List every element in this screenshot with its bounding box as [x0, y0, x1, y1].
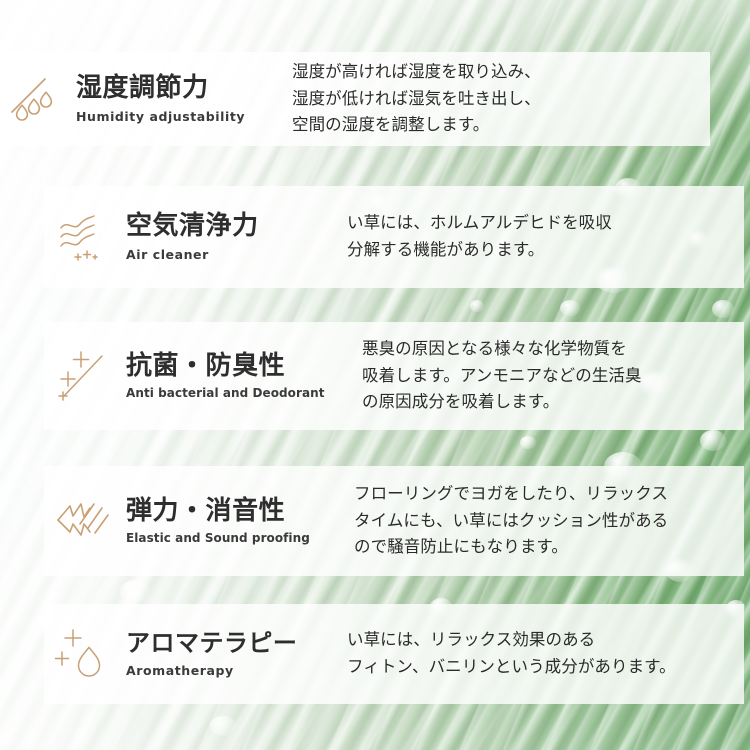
feature-titles: 弾力・消音性 Elastic and Sound proofing — [122, 497, 344, 546]
description-line: 分解する機能があります。 — [347, 237, 744, 264]
feature-icon-wrap — [44, 210, 122, 264]
description-line: ので騒音防止にもなります。 — [354, 534, 744, 561]
feature-description: い草には、ホルムアルデヒドを吸収 分解する機能があります。 — [337, 210, 744, 263]
feature-card-antibacterial: 抗菌・防臭性 Anti bacterial and Deodorant 悪臭の原… — [44, 322, 744, 430]
feature-card-humidity: 湿度調節力 Humidity adjustability 湿度が高ければ湿度を取… — [0, 52, 710, 146]
feature-description: 湿度が高ければ湿度を取り込み、 湿度が低ければ湿気を吐き出し、 空間の湿度を調整… — [282, 59, 710, 139]
feature-icon-wrap — [44, 494, 122, 548]
description-line: 湿度が高ければ湿度を取り込み、 — [292, 59, 710, 86]
air-flow-waves-icon — [56, 210, 110, 264]
description-line: い草には、ホルムアルデヒドを吸収 — [347, 210, 744, 237]
feature-subtitle: Humidity adjustability — [76, 109, 282, 124]
feature-card-aromatherapy: アロマテラピー Aromatherapy い草には、リラックス効果のある フィト… — [44, 604, 744, 704]
feature-description: フローリングでヨガをしたり、リラックス タイムにも、い草にはクッション性がある … — [344, 481, 744, 561]
description-line: フローリングでヨガをしたり、リラックス — [354, 481, 744, 508]
feature-subtitle: Aromatherapy — [126, 663, 337, 678]
description-line: 空間の湿度を調整します。 — [292, 112, 710, 139]
feature-title: 空気清浄力 — [126, 212, 337, 242]
feature-titles: アロマテラピー Aromatherapy — [122, 630, 337, 678]
feature-card-elastic-soundproof: 弾力・消音性 Elastic and Sound proofing フローリング… — [44, 466, 744, 576]
feature-titles: 湿度調節力 Humidity adjustability — [72, 74, 282, 124]
feature-icon-wrap — [44, 626, 122, 682]
feature-title: 湿度調節力 — [76, 74, 282, 104]
bounce-motion-icon — [54, 494, 112, 548]
feature-title: アロマテラピー — [126, 630, 337, 658]
description-line: タイムにも、い草にはクッション性がある — [354, 508, 744, 535]
description-line: 悪臭の原因となる様々な化学物質を — [362, 336, 744, 363]
description-line: 湿度が低ければ湿気を吐き出し、 — [292, 86, 710, 113]
description-line: フィトン、バニリンという成分があります。 — [347, 654, 744, 681]
feature-list-graphic: 湿度調節力 Humidity adjustability 湿度が高ければ湿度を取… — [0, 0, 750, 750]
feature-title: 弾力・消音性 — [126, 497, 344, 527]
sparkle-wand-icon — [56, 348, 110, 404]
aroma-droplet-sparkle-icon — [55, 626, 111, 682]
feature-subtitle: Air cleaner — [126, 247, 337, 262]
feature-description: 悪臭の原因となる様々な化学物質を 吸着します。アンモニアなどの生活臭 の原因成分… — [352, 336, 744, 416]
feature-titles: 空気清浄力 Air cleaner — [122, 212, 337, 262]
feature-description: い草には、リラックス効果のある フィトン、バニリンという成分があります。 — [337, 627, 744, 680]
feature-subtitle: Anti bacterial and Deodorant — [126, 386, 352, 400]
description-line: い草には、リラックス効果のある — [347, 627, 744, 654]
water-droplets-icon — [6, 72, 60, 126]
feature-icon-wrap — [44, 348, 122, 404]
description-line: の原因成分を吸着します。 — [362, 389, 744, 416]
feature-titles: 抗菌・防臭性 Anti bacterial and Deodorant — [122, 352, 352, 401]
feature-card-air-cleaner: 空気清浄力 Air cleaner い草には、ホルムアルデヒドを吸収 分解する機… — [44, 186, 744, 288]
feature-title: 抗菌・防臭性 — [126, 352, 352, 382]
description-line: 吸着します。アンモニアなどの生活臭 — [362, 363, 744, 390]
feature-subtitle: Elastic and Sound proofing — [126, 531, 344, 545]
feature-icon-wrap — [0, 72, 72, 126]
